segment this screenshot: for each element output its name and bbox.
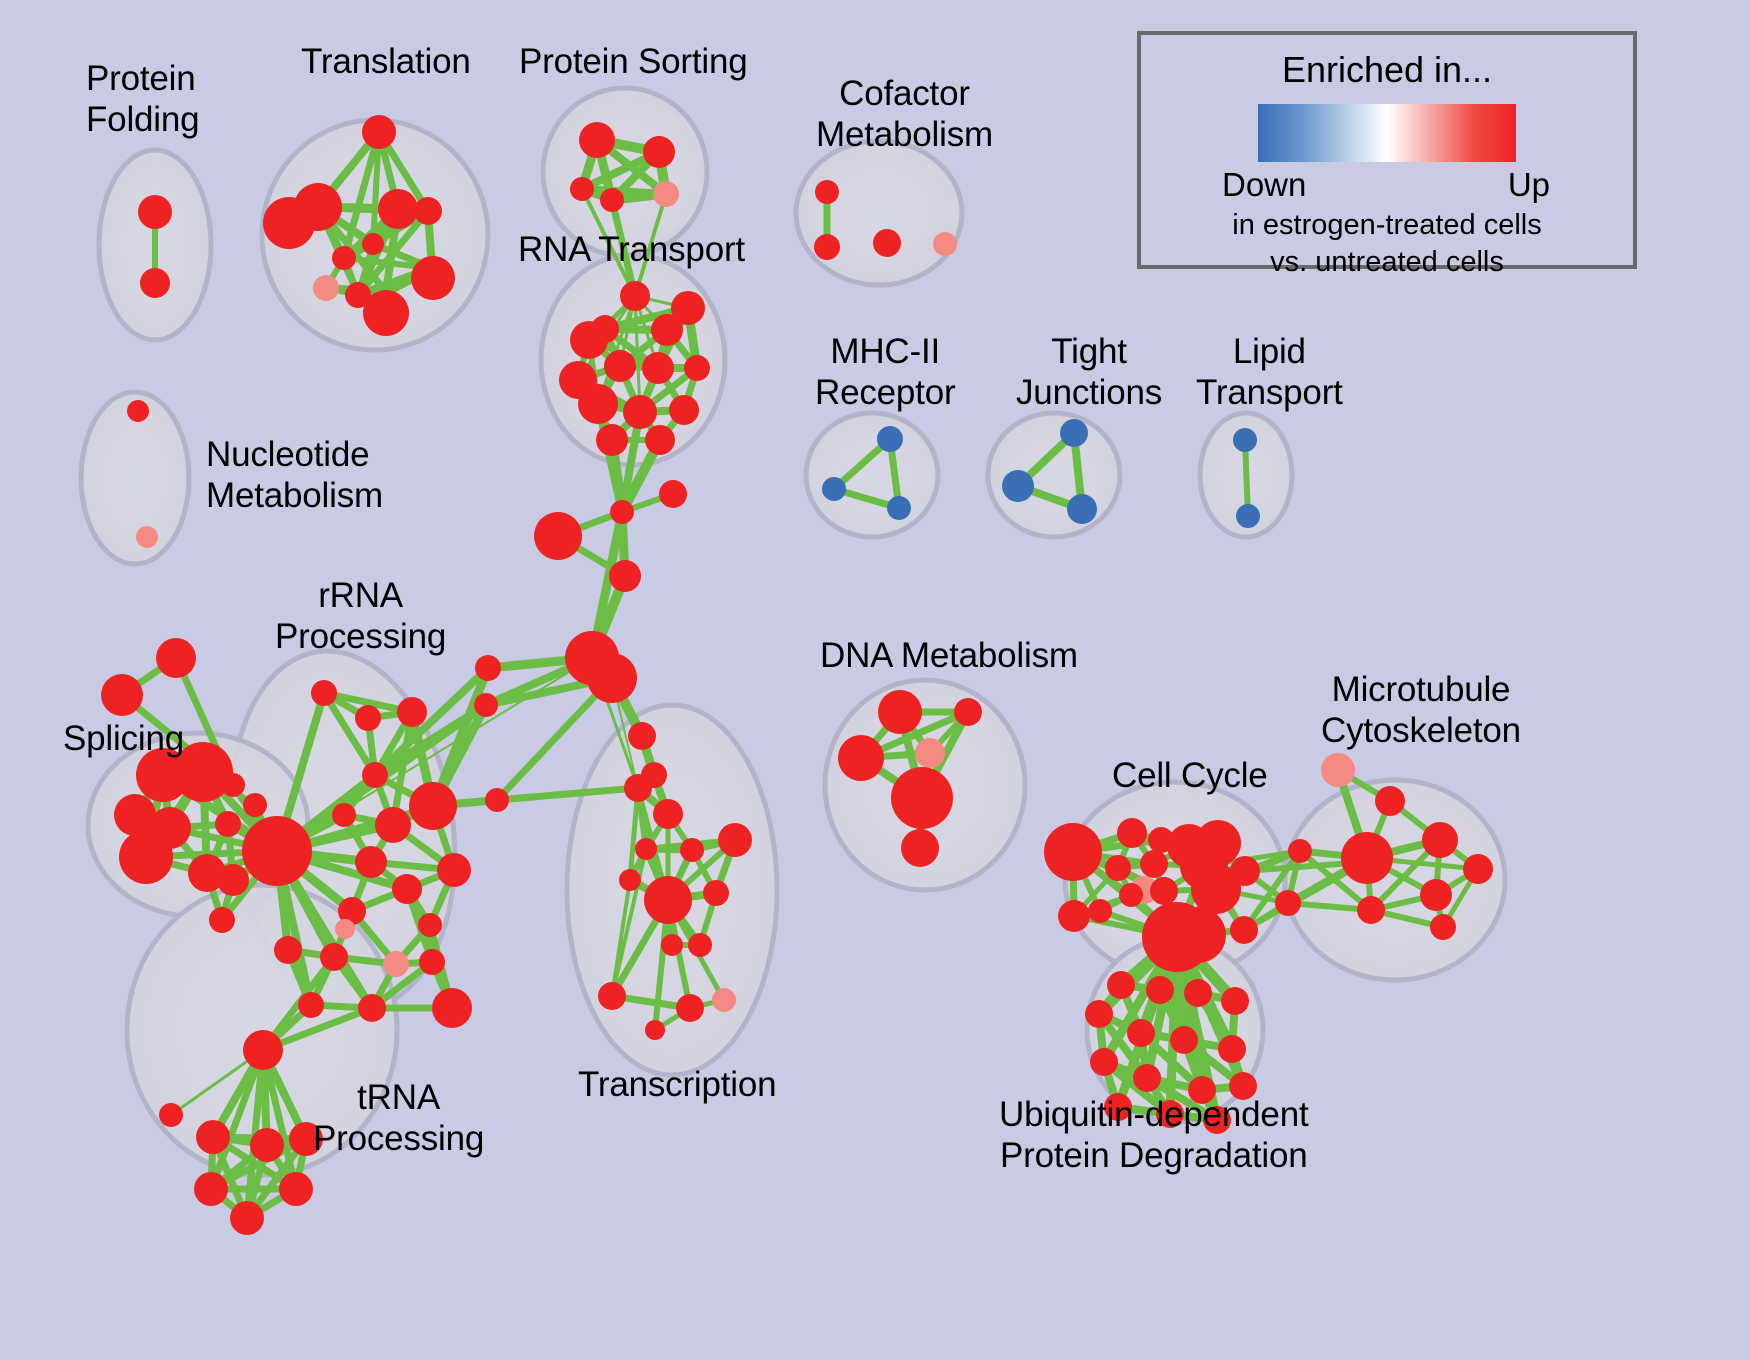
node <box>645 425 675 455</box>
node <box>136 526 158 548</box>
node <box>838 735 884 781</box>
node <box>814 234 840 260</box>
node <box>653 181 679 207</box>
node <box>1146 976 1174 1004</box>
legend-title: Enriched in... <box>1141 49 1633 91</box>
node <box>610 500 634 524</box>
node <box>651 314 683 346</box>
node <box>320 943 348 971</box>
node <box>887 496 911 520</box>
node <box>156 638 196 678</box>
node <box>661 934 683 956</box>
node <box>604 350 636 382</box>
node <box>1430 914 1456 940</box>
node <box>1107 971 1135 999</box>
node <box>1218 1035 1246 1063</box>
node <box>1184 979 1212 1007</box>
node <box>891 767 953 829</box>
legend-up-label: Up <box>1508 166 1550 204</box>
cluster-label-transcription: Transcription <box>578 1064 776 1105</box>
node <box>335 919 355 939</box>
cluster-label-trna-processing: tRNAProcessing <box>313 1077 484 1159</box>
cluster-label-protein-sorting: Protein Sorting <box>519 41 748 82</box>
node <box>362 115 396 149</box>
node <box>628 722 656 750</box>
legend-panel: Enriched in... Down Up in estrogen-treat… <box>1137 31 1637 269</box>
node <box>688 933 712 957</box>
node <box>624 774 652 802</box>
legend-subtitle-line2: vs. untreated cells <box>1141 245 1633 280</box>
node <box>718 823 752 857</box>
node <box>243 793 267 817</box>
node <box>1105 855 1131 881</box>
node <box>933 232 957 256</box>
node <box>362 233 384 255</box>
node <box>1090 1048 1118 1076</box>
node <box>362 762 388 788</box>
node <box>878 690 922 734</box>
node <box>1119 883 1143 907</box>
node <box>414 197 442 225</box>
node <box>643 136 675 168</box>
node <box>703 880 729 906</box>
node <box>676 994 704 1022</box>
node <box>620 281 650 311</box>
node <box>159 1103 183 1127</box>
node <box>642 352 674 384</box>
node <box>355 705 381 731</box>
node <box>392 874 422 904</box>
node <box>901 829 939 867</box>
node <box>279 1172 313 1206</box>
node <box>578 384 618 424</box>
node <box>1230 856 1260 886</box>
node <box>1357 896 1385 924</box>
node <box>635 838 657 860</box>
node <box>311 680 337 706</box>
node <box>411 256 455 300</box>
node <box>397 697 427 727</box>
node <box>570 177 594 201</box>
node <box>419 949 445 975</box>
node <box>1375 786 1405 816</box>
node <box>409 782 457 830</box>
node <box>332 246 356 270</box>
node <box>1463 854 1493 884</box>
cluster-label-tight-junctions: TightJunctions <box>1016 331 1162 413</box>
node <box>209 907 235 933</box>
node <box>915 738 945 768</box>
cluster-label-lipid-transport: LipidTransport <box>1196 331 1343 413</box>
node <box>263 197 315 249</box>
node <box>1140 850 1168 878</box>
node <box>217 864 249 896</box>
node <box>274 936 302 964</box>
node <box>101 674 143 716</box>
node <box>485 788 509 812</box>
node <box>645 1020 665 1040</box>
node <box>669 395 699 425</box>
node <box>138 195 172 229</box>
cluster-label-cofactor-metabolism: CofactorMetabolism <box>816 73 993 155</box>
node <box>418 913 442 937</box>
cluster-label-cell-cycle: Cell Cycle <box>1112 755 1268 796</box>
node <box>1321 753 1355 787</box>
node <box>196 1120 230 1154</box>
node <box>600 188 624 212</box>
node <box>570 321 608 359</box>
node <box>1221 987 1249 1015</box>
node <box>659 480 687 508</box>
node <box>1058 900 1090 932</box>
node <box>1170 907 1226 963</box>
node <box>712 988 736 1012</box>
node <box>598 982 626 1010</box>
node <box>127 400 149 422</box>
cluster-label-rna-transport: RNA Transport <box>518 229 745 270</box>
hull-cofactor <box>796 141 962 285</box>
node <box>623 395 657 429</box>
node <box>1088 899 1112 923</box>
node <box>358 994 386 1022</box>
node <box>609 560 641 592</box>
cluster-label-rrna-processing: rRNAProcessing <box>275 575 446 657</box>
node <box>243 1030 283 1070</box>
node <box>242 816 312 886</box>
node <box>140 268 170 298</box>
node <box>1422 822 1458 858</box>
node <box>587 653 637 703</box>
node <box>954 698 982 726</box>
node <box>534 512 582 560</box>
node <box>230 1201 264 1235</box>
node <box>1341 832 1393 884</box>
node <box>119 830 173 884</box>
node <box>363 290 409 336</box>
node <box>250 1128 284 1162</box>
legend-down-label: Down <box>1222 166 1306 204</box>
node <box>1420 879 1452 911</box>
node <box>1067 494 1097 524</box>
legend-end-labels: Down Up <box>1222 166 1552 206</box>
node <box>579 122 615 158</box>
node <box>619 869 641 891</box>
node <box>1085 1000 1113 1028</box>
node <box>432 988 472 1028</box>
node <box>1117 818 1147 848</box>
node <box>1233 428 1257 452</box>
node <box>332 803 356 827</box>
node <box>1044 823 1102 881</box>
cluster-label-protein-folding: ProteinFolding <box>86 58 199 140</box>
node <box>1236 504 1260 528</box>
node <box>680 838 704 862</box>
node <box>653 799 683 829</box>
enrichment-map-figure: .hull{fill:url(#cgrad);stroke:#b2b2c9;st… <box>0 0 1750 1360</box>
node <box>1002 470 1034 502</box>
node <box>194 1172 228 1206</box>
node <box>877 426 903 452</box>
node <box>596 424 628 456</box>
node <box>474 693 498 717</box>
cluster-label-translation: Translation <box>301 41 471 82</box>
node <box>1133 1064 1161 1092</box>
cluster-label-nucleotide-metabolism: NucleotideMetabolism <box>206 434 383 516</box>
node <box>375 807 411 843</box>
node <box>437 853 471 887</box>
node <box>1127 1019 1155 1047</box>
node <box>383 951 409 977</box>
cluster-label-ubiquitin-degradation: Ubiquitin-dependentProtein Degradation <box>999 1094 1309 1176</box>
node <box>1275 890 1301 916</box>
node <box>815 180 839 204</box>
hull-mhc <box>806 413 938 537</box>
node <box>684 355 710 381</box>
node <box>313 275 339 301</box>
node <box>822 477 846 501</box>
node <box>475 655 501 681</box>
node <box>378 189 418 229</box>
legend-subtitle-line1: in estrogen-treated cells <box>1141 208 1633 243</box>
cluster-label-splicing: Splicing <box>63 718 184 759</box>
cluster-label-microtubule-cytoskeleton: MicrotubuleCytoskeleton <box>1321 669 1521 751</box>
node <box>1060 419 1088 447</box>
cluster-label-dna-metabolism: DNA Metabolism <box>820 635 1078 676</box>
legend-color-gradient-bar <box>1258 104 1516 162</box>
node <box>1230 916 1258 944</box>
node <box>644 876 692 924</box>
cluster-label-mhc-ii-receptor: MHC-IIReceptor <box>815 331 955 413</box>
node <box>298 992 324 1018</box>
node <box>215 811 241 837</box>
node <box>873 229 901 257</box>
node <box>1288 839 1312 863</box>
node <box>1150 877 1178 905</box>
node <box>1170 1026 1198 1054</box>
node <box>355 846 387 878</box>
